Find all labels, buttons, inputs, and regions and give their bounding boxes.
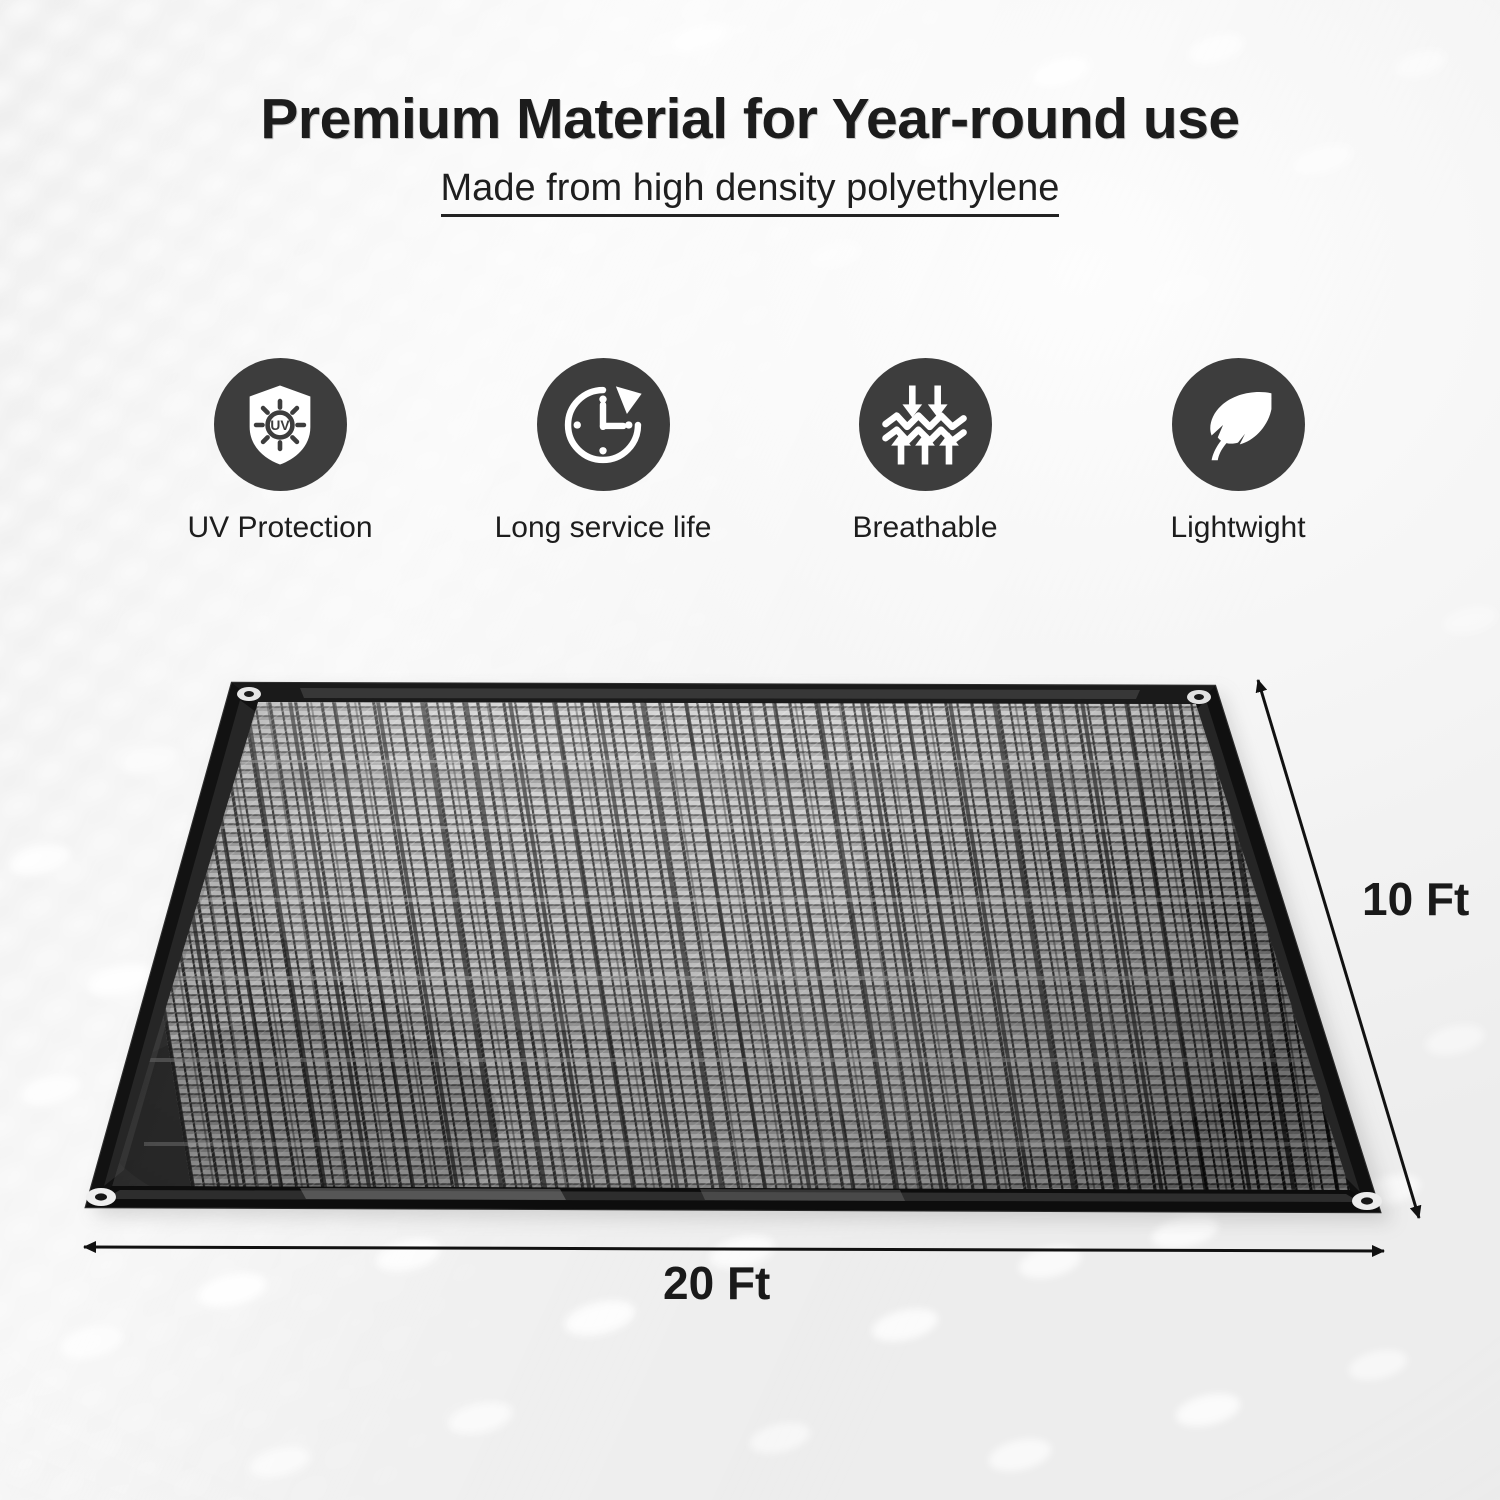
- product-infographic: Premium Material for Year-round use Made…: [0, 0, 1500, 1500]
- breathable-waves-arrows-icon: [859, 358, 992, 491]
- page-subtitle: Made from high density polyethylene: [0, 167, 1500, 210]
- feature-long-service-life: Long service life: [473, 358, 733, 545]
- clock-arrow-icon: [537, 358, 670, 491]
- svg-text:UV: UV: [270, 418, 290, 433]
- feature-label: Long service life: [473, 511, 733, 545]
- feature-breathable: Breathable: [795, 358, 1055, 545]
- background-oval-pattern: [0, 0, 1500, 1500]
- uv-shield-icon: UV: [214, 358, 347, 491]
- feature-uv-protection: UV UV Protection: [150, 358, 410, 545]
- feature-list: UV UV Protection: [150, 358, 1350, 558]
- page-title: Premium Material for Year-round use: [0, 86, 1500, 152]
- feature-label: Breathable: [795, 511, 1055, 545]
- page-subtitle-text: Made from high density polyethylene: [441, 167, 1060, 217]
- feather-icon: [1172, 358, 1305, 491]
- feature-label: UV Protection: [150, 511, 410, 545]
- feature-label: Lightwight: [1108, 511, 1368, 545]
- feature-lightwight: Lightwight: [1108, 358, 1368, 545]
